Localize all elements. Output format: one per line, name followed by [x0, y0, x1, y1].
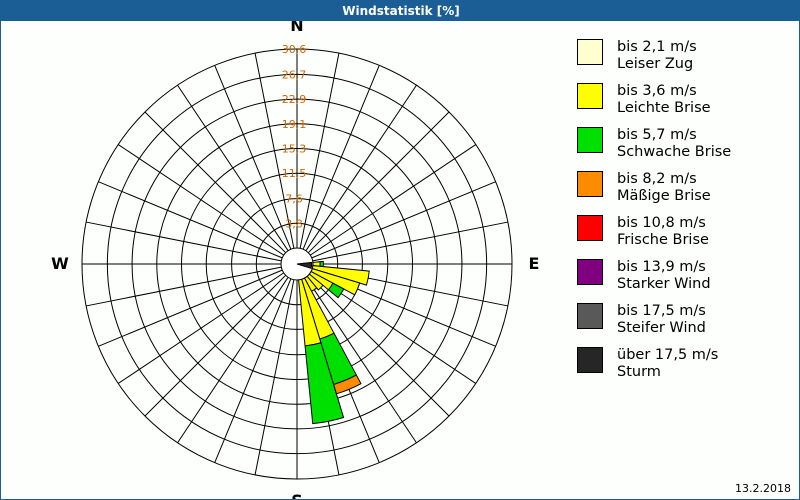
legend-label: über 17,5 m/sSturm: [617, 347, 718, 381]
windrose-window: Windstatistik [%] 3,87,611,515,319,122,9…: [0, 0, 800, 500]
legend-name: Sturm: [617, 364, 718, 381]
radial-tick-label: 7,6: [285, 193, 303, 206]
legend-speed: bis 2,1 m/s: [617, 39, 697, 56]
petal-segment: [320, 261, 323, 266]
legend-name: Mäßige Brise: [617, 188, 711, 205]
legend-label: bis 5,7 m/sSchwache Brise: [617, 127, 731, 161]
legend-item: bis 8,2 m/sMäßige Brise: [577, 171, 792, 205]
compass-label-east: E: [529, 254, 540, 273]
legend-speed: bis 13,9 m/s: [617, 259, 711, 276]
legend-name: Leichte Brise: [617, 100, 711, 117]
legend-item: bis 13,9 m/sStarker Wind: [577, 259, 792, 293]
radial-tick-label: 15,3: [282, 143, 307, 156]
legend-label: bis 3,6 m/sLeichte Brise: [617, 83, 711, 117]
legend-item: bis 17,5 m/sSteifer Wind: [577, 303, 792, 337]
date-stamp: 13.2.2018: [735, 482, 791, 495]
legend-label: bis 8,2 m/sMäßige Brise: [617, 171, 711, 205]
radial-tick-label: 11,5: [282, 167, 307, 180]
legend-swatch-icon: [577, 303, 603, 329]
radial-tick-label: 3,8: [285, 217, 303, 230]
legend-name: Leiser Zug: [617, 56, 697, 73]
legend: bis 2,1 m/sLeiser Zugbis 3,6 m/sLeichte …: [577, 39, 792, 391]
legend-speed: über 17,5 m/s: [617, 347, 718, 364]
radial-tick-label: 22,9: [282, 93, 307, 106]
legend-item: bis 2,1 m/sLeiser Zug: [577, 39, 792, 73]
radial-tick-label: 19,1: [282, 118, 307, 131]
legend-swatch-icon: [577, 171, 603, 197]
legend-speed: bis 17,5 m/s: [617, 303, 706, 320]
legend-item: bis 5,7 m/sSchwache Brise: [577, 127, 792, 161]
radial-tick-label: 26,7: [282, 68, 307, 81]
legend-speed: bis 3,6 m/s: [617, 83, 711, 100]
legend-label: bis 2,1 m/sLeiser Zug: [617, 39, 697, 73]
compass-label-south: S: [291, 491, 303, 499]
legend-name: Starker Wind: [617, 276, 711, 293]
radial-tick-label: 30,6: [282, 43, 307, 56]
legend-speed: bis 8,2 m/s: [617, 171, 711, 188]
legend-item: bis 10,8 m/sFrische Brise: [577, 215, 792, 249]
legend-swatch-icon: [577, 83, 603, 109]
legend-label: bis 10,8 m/sFrische Brise: [617, 215, 709, 249]
window-titlebar: Windstatistik [%]: [1, 1, 800, 21]
window-title: Windstatistik [%]: [342, 4, 459, 18]
petal-group: [297, 261, 369, 423]
legend-swatch-icon: [577, 39, 603, 65]
legend-speed: bis 10,8 m/s: [617, 215, 709, 232]
legend-label: bis 13,9 m/sStarker Wind: [617, 259, 711, 293]
legend-speed: bis 5,7 m/s: [617, 127, 731, 144]
legend-swatch-icon: [577, 259, 603, 285]
legend-name: Steifer Wind: [617, 320, 706, 337]
legend-item: über 17,5 m/sSturm: [577, 347, 792, 381]
legend-name: Schwache Brise: [617, 144, 731, 161]
legend-label: bis 17,5 m/sSteifer Wind: [617, 303, 706, 337]
compass-label-north: N: [290, 21, 303, 35]
legend-swatch-icon: [577, 215, 603, 241]
legend-item: bis 3,6 m/sLeichte Brise: [577, 83, 792, 117]
legend-swatch-icon: [577, 127, 603, 153]
compass-label-west: W: [51, 254, 69, 273]
legend-name: Frische Brise: [617, 232, 709, 249]
legend-swatch-icon: [577, 347, 603, 373]
